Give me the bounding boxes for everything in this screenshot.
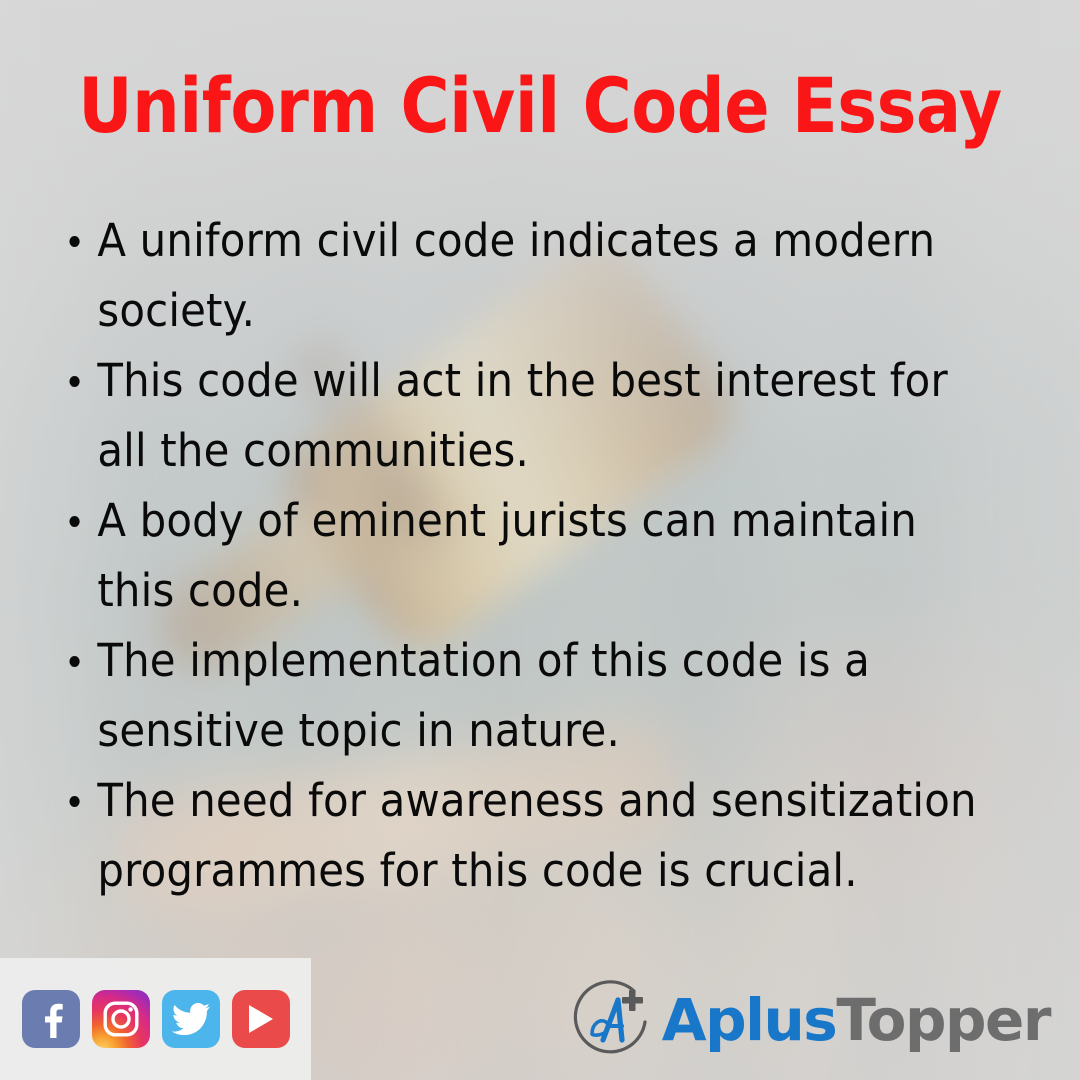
brand-logo[interactable]: AplusTopper xyxy=(572,978,1050,1062)
bullet-dot-icon xyxy=(69,376,79,387)
list-item-text: This code will act in the best interest … xyxy=(97,354,947,477)
aplus-mark-icon xyxy=(572,978,656,1062)
youtube-icon[interactable] xyxy=(232,990,290,1048)
brand-wordmark: AplusTopper xyxy=(662,991,1050,1049)
list-item-text: The need for awareness and sensitization… xyxy=(97,774,976,897)
facebook-icon[interactable] xyxy=(22,990,80,1048)
list-item: A uniform civil code indicates a modern … xyxy=(62,206,998,346)
bullet-dot-icon xyxy=(69,656,79,667)
page-title: Uniform Civil Code Essay xyxy=(65,68,1015,144)
list-item-text: The implementation of this code is a sen… xyxy=(97,634,870,757)
brand-name-primary: Aplus xyxy=(662,986,837,1054)
brand-name-secondary: Topper xyxy=(836,986,1050,1054)
list-item: The implementation of this code is a sen… xyxy=(62,626,998,766)
twitter-icon[interactable] xyxy=(162,990,220,1048)
bullet-list: A uniform civil code indicates a modern … xyxy=(62,206,1068,906)
instagram-icon[interactable] xyxy=(92,990,150,1048)
list-item-text: A uniform civil code indicates a modern … xyxy=(97,214,935,337)
bullet-dot-icon xyxy=(69,516,79,527)
list-item: A body of eminent jurists can maintain t… xyxy=(62,486,998,626)
poster-canvas: Uniform Civil Code Essay A uniform civil… xyxy=(0,0,1080,1080)
bullet-dot-icon xyxy=(69,236,79,247)
list-item: The need for awareness and sensitization… xyxy=(62,766,998,906)
list-item: This code will act in the best interest … xyxy=(62,346,998,486)
bullet-dot-icon xyxy=(69,796,79,807)
list-item-text: A body of eminent jurists can maintain t… xyxy=(97,494,917,617)
social-links-bar xyxy=(0,958,311,1080)
